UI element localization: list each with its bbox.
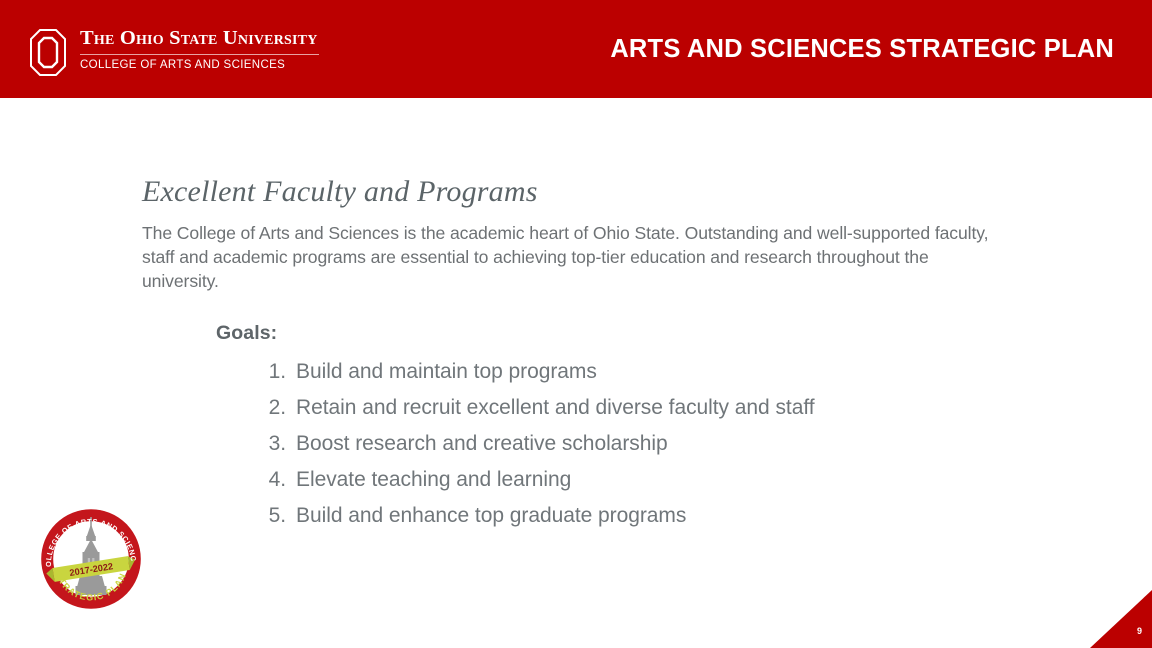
list-item-number: 3. — [252, 432, 296, 456]
list-item: 3. Boost research and creative scholarsh… — [252, 432, 815, 468]
goals-label: Goals: — [216, 322, 277, 345]
slide-canvas: { "theme": { "brand_red": "#bb0000", "se… — [0, 0, 1152, 648]
list-item-number: 1. — [252, 360, 296, 384]
list-item-label: Boost research and creative scholarship — [296, 432, 668, 456]
list-item-number: 2. — [252, 396, 296, 420]
list-item: 2. Retain and recruit excellent and dive… — [252, 396, 815, 432]
slide-paragraph: The College of Arts and Sciences is the … — [142, 221, 994, 293]
strategic-plan-seal-icon: 2017-2022 COLLEGE OF ARTS AND SCIENCES S… — [40, 508, 142, 610]
college-wordmark: COLLEGE OF ARTS AND SCIENCES — [80, 60, 319, 72]
goals-list: 1. Build and maintain top programs 2. Re… — [252, 360, 815, 540]
list-item-label: Elevate teaching and learning — [296, 468, 571, 492]
list-item: 5. Build and enhance top graduate progra… — [252, 504, 815, 540]
list-item-label: Build and maintain top programs — [296, 360, 597, 384]
page-number: 9 — [1137, 627, 1142, 636]
brand-divider-rule — [80, 54, 319, 55]
list-item-number: 5. — [252, 504, 296, 528]
page-title: ARTS AND SCIENCES STRATEGIC PLAN — [610, 37, 1114, 63]
list-item-label: Retain and recruit excellent and diverse… — [296, 396, 815, 420]
corner-triangle-icon — [1090, 590, 1152, 648]
list-item: 4. Elevate teaching and learning — [252, 468, 815, 504]
brand-lockup: The Ohio State University COLLEGE OF ART… — [30, 27, 319, 76]
slide-heading: Excellent Faculty and Programs — [142, 175, 538, 208]
list-item-number: 4. — [252, 468, 296, 492]
header-band: The Ohio State University COLLEGE OF ART… — [0, 0, 1152, 98]
list-item: 1. Build and maintain top programs — [252, 360, 815, 396]
block-o-icon — [30, 29, 66, 76]
university-wordmark: The Ohio State University — [80, 28, 319, 49]
list-item-label: Build and enhance top graduate programs — [296, 504, 686, 528]
brand-text-block: The Ohio State University COLLEGE OF ART… — [80, 27, 319, 71]
